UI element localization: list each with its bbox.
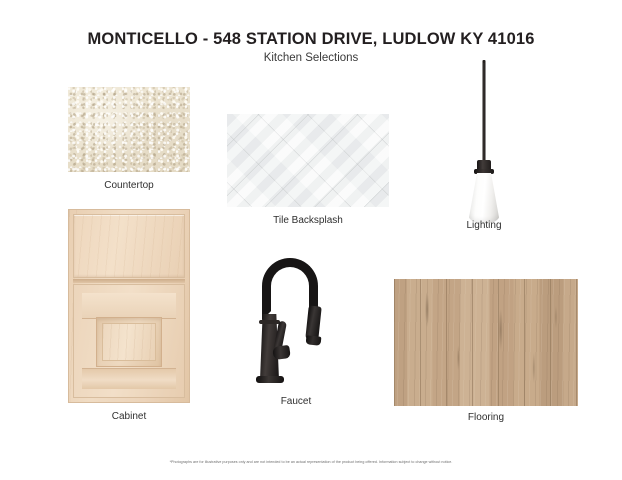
faucet-body-ring <box>259 320 280 324</box>
cabinet-door-image <box>68 209 190 403</box>
cabinet-label: Cabinet <box>68 411 190 422</box>
tile-backsplash-swatch <box>227 114 389 207</box>
pendant-glass-shade <box>468 173 500 223</box>
faucet-handle-joint <box>272 345 291 360</box>
cabinet-reveal-gap <box>73 279 185 283</box>
faucet-label: Faucet <box>246 396 346 407</box>
countertop-swatch <box>68 87 190 172</box>
page-subtitle: Kitchen Selections <box>0 52 622 64</box>
faucet-base-plate <box>256 376 284 383</box>
page-title: MONTICELLO - 548 STATION DRIVE, LUDLOW K… <box>0 30 622 49</box>
cabinet-door-face <box>73 284 185 398</box>
pendant-rod <box>483 63 486 164</box>
cabinet-top-rail <box>82 293 176 319</box>
faucet-spout-tip <box>306 335 322 346</box>
cabinet-panel-frame <box>96 317 162 367</box>
lighting-pendant-image <box>444 60 524 205</box>
flooring-swatch <box>394 279 578 406</box>
cabinet-raised-panel <box>102 323 156 361</box>
cabinet-bottom-rail <box>82 368 176 389</box>
flooring-label: Flooring <box>394 412 578 423</box>
disclaimer-text: *Photographs are for illustrative purpos… <box>0 459 622 465</box>
tile-backsplash-label: Tile Backsplash <box>227 215 389 226</box>
countertop-label: Countertop <box>68 180 190 191</box>
faucet-image <box>246 258 346 383</box>
cabinet-drawer-front <box>73 214 185 278</box>
lighting-label: Lighting <box>444 220 524 231</box>
